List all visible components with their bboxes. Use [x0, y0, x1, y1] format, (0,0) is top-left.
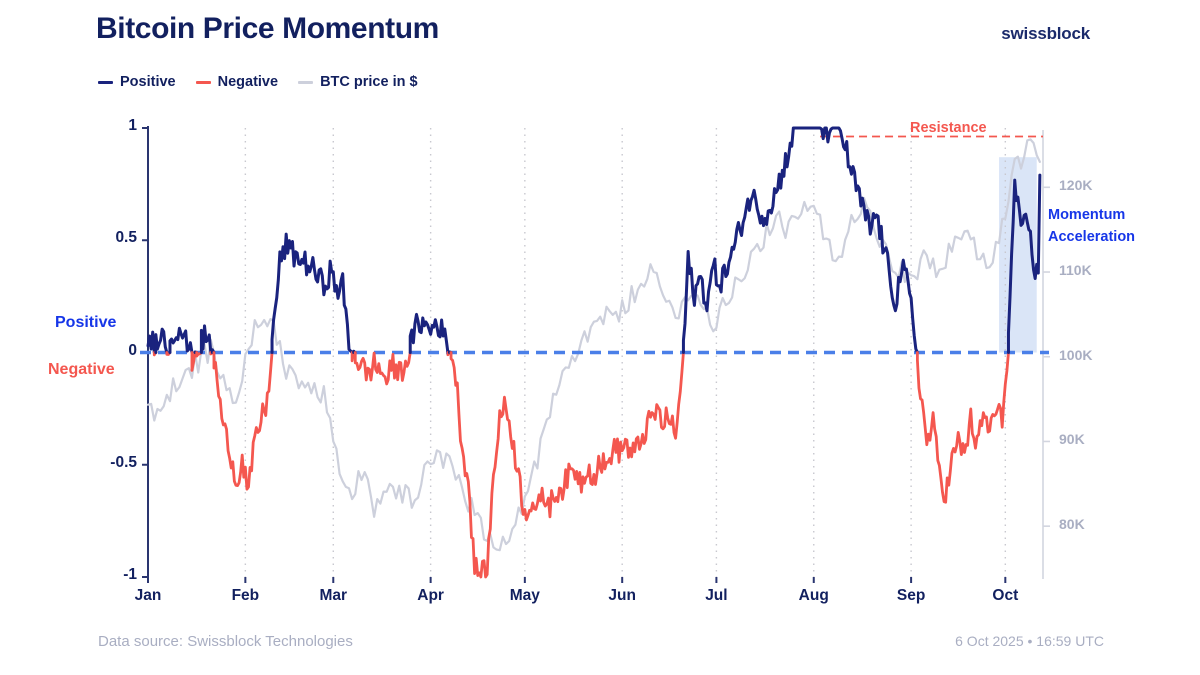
annotation-negative: Negative	[48, 361, 115, 379]
chart-canvas	[0, 0, 1200, 675]
annotation-momentum-line2: Acceleration	[1048, 226, 1135, 248]
btc-price-line	[148, 139, 1040, 550]
annotation-resistance: Resistance	[910, 120, 987, 136]
x-axis-tick-label: Apr	[391, 587, 471, 605]
price-axis-tick-label: 80K	[1059, 516, 1085, 532]
y-axis-tick-label: 0	[128, 342, 137, 360]
x-axis-tick-label: Oct	[965, 587, 1045, 605]
footer-timestamp: 6 Oct 2025 • 16:59 UTC	[955, 633, 1104, 649]
x-axis-tick-label: May	[485, 587, 565, 605]
y-axis-tick-label: -0.5	[110, 454, 137, 472]
x-axis-tick-label: Jun	[582, 587, 662, 605]
x-axis-tick-label: Feb	[205, 587, 285, 605]
y-axis-tick-label: 0.5	[115, 229, 137, 247]
x-axis-tick-label: Sep	[871, 587, 951, 605]
annotation-positive: Positive	[55, 314, 116, 332]
price-axis-tick-label: 120K	[1059, 177, 1092, 193]
price-axis-tick-label: 100K	[1059, 347, 1092, 363]
price-axis-tick-label: 110K	[1059, 262, 1092, 278]
plot-area: 10.50-0.5-1 JanFebMarAprMayJunJulAugSepO…	[0, 0, 1200, 675]
y-axis-tick-label: 1	[128, 117, 137, 135]
x-axis-tick-label: Jan	[108, 587, 188, 605]
price-axis-tick-label: 90K	[1059, 431, 1085, 447]
axis-tick-group	[142, 128, 1050, 583]
x-axis-tick-label: Jul	[676, 587, 756, 605]
chart-root: Bitcoin Price Momentum swissblock Positi…	[0, 0, 1200, 675]
annotation-momentum-line1: Momentum	[1048, 204, 1135, 226]
x-axis-tick-label: Aug	[774, 587, 854, 605]
x-axis-tick-label: Mar	[293, 587, 373, 605]
annotation-momentum-acceleration: Momentum Acceleration	[1048, 204, 1135, 249]
y-axis-tick-label: -1	[123, 566, 137, 584]
footer-data-source: Data source: Swissblock Technologies	[98, 633, 353, 650]
